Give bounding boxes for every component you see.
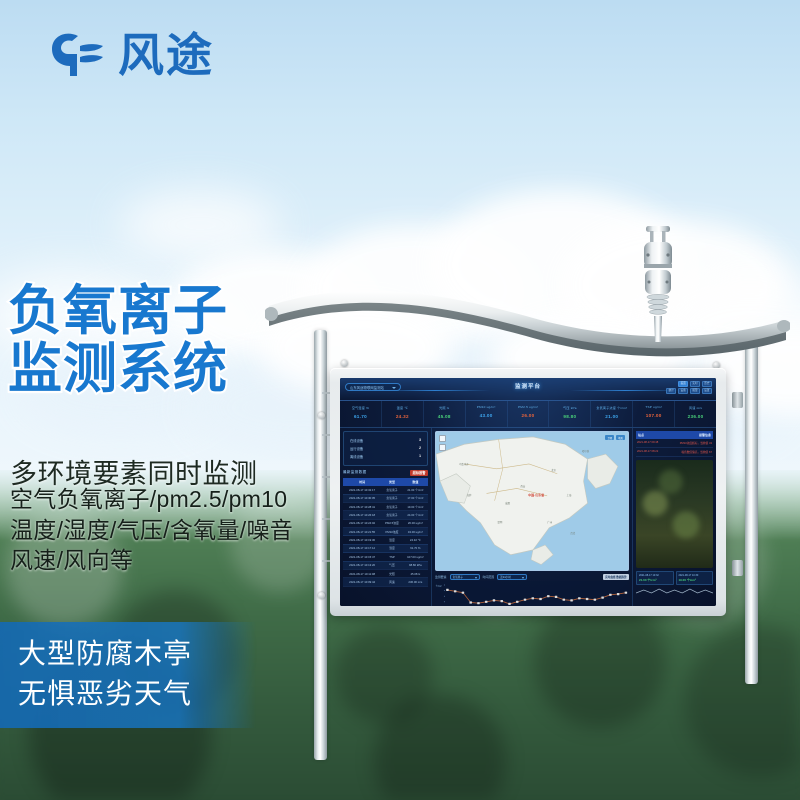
stat-label: 离线设备	[350, 454, 363, 459]
y-axis-tick	[444, 590, 445, 591]
chart-marker	[524, 599, 526, 601]
records-column-header: 时间	[343, 478, 381, 486]
spec-item: 温度/湿度/气压/含氧量/噪音	[10, 515, 320, 546]
table-cell: TSP	[381, 553, 402, 561]
table-cell: 107.00 ug/m³	[403, 553, 428, 561]
chart-controls: 监测要素 负氧离子 时间范围 近24小时 实时曲线 数据趋势	[435, 574, 629, 581]
product-marketing-image: 监测平台 山东风途物联网监测站 首页 实时 历史 统计 设备 报警 设置	[0, 0, 800, 800]
header-chip[interactable]: 报警	[690, 388, 700, 394]
feature-badge-line-1: 大型防腐木亭	[18, 634, 256, 674]
metric-value: 61.70	[340, 414, 381, 419]
map-zoom-out-icon[interactable]	[439, 444, 446, 451]
y-axis-tick	[444, 596, 445, 597]
right-panel-footer: 2021-08-17 10:3221.00 个/cm³2021-08-17 10…	[636, 571, 713, 585]
table-cell: 2021-08-17 10:13:20	[343, 561, 381, 569]
metric-label: 负氧离子浓度 个/cm³	[591, 405, 632, 410]
chart-marker	[625, 592, 627, 594]
chart-marker	[617, 593, 619, 595]
map-city-label: 台北	[570, 531, 575, 535]
table-cell: 负氧离子	[381, 502, 402, 510]
metric-value: 107.00	[633, 413, 674, 418]
table-cell: 19.00 个/cm³	[403, 502, 428, 510]
dashboard-header: 监测平台 山东风途物联网监测站 首页 实时 历史 统计 设备 报警 设置	[340, 378, 716, 401]
chart-tag: 实时曲线 数据趋势	[603, 574, 629, 580]
display-cabinet: 监测平台 山东风途物联网监测站 首页 实时 历史 统计 设备 报警 设置	[330, 368, 726, 616]
canopy-roof	[265, 288, 790, 358]
feature-badge-line-2: 无惧恶劣天气	[18, 674, 256, 714]
records-column-header: 类型	[381, 478, 402, 486]
map-city-label: 哈尔滨	[582, 449, 589, 453]
table-cell: 2021-08-17 10:11:08	[343, 569, 381, 577]
chart-marker	[532, 597, 534, 599]
metric-value: 21.00	[591, 414, 632, 419]
table-row[interactable]: 2021-08-17 10:15:47TSP107.00 ug/m³	[343, 553, 428, 561]
table-cell: 风速	[381, 578, 402, 586]
header-control-row-1: 统计 设备 报警 设置	[666, 388, 712, 394]
table-cell: 负氧离子	[381, 486, 402, 494]
hinge-icon	[732, 392, 743, 408]
headline-line-1: 负氧离子	[8, 282, 308, 340]
records-panel-title: 最新监测数据	[343, 470, 366, 475]
chart-marker	[601, 597, 603, 599]
map-city-label: 上海	[567, 493, 572, 497]
metric-label: TSP ug/m³	[633, 405, 674, 409]
table-cell: 17.00 个/cm³	[403, 494, 428, 502]
brand-name: 风途	[118, 32, 214, 78]
stat-row: 离线设备1	[350, 452, 421, 460]
support-post-right	[745, 332, 758, 684]
metric-card: 风速 m/s236.00	[675, 401, 716, 427]
chart-marker	[477, 602, 479, 604]
map-layer-badges[interactable]: 卫星 地形	[605, 435, 625, 440]
records-table-body: 2021-08-17 10:32:17负氧离子21.00 个/cm³2021-0…	[343, 486, 428, 586]
table-cell: 2021-08-17 10:19:30	[343, 536, 381, 544]
chart-marker	[563, 599, 565, 601]
summary-cell: 2021-08-17 10:3221.00 个/cm³	[636, 571, 674, 585]
brand-logo: 风途	[44, 26, 214, 84]
feature-badge: 大型防腐木亭 无惧恶劣天气	[0, 622, 256, 728]
map-city-label: 拉萨	[467, 493, 472, 497]
header-control-row-0: 首页 实时 历史	[678, 381, 712, 387]
screen-bezel-inner: 监测平台 山东风途物联网监测站 首页 实时 历史 统计 设备 报警 设置	[340, 378, 716, 606]
table-cell: 61.70 %	[403, 544, 428, 552]
table-row[interactable]: 2021-08-17 10:24:02PM2.5浓度26.00 ug/m³	[343, 519, 428, 527]
chart-marker	[594, 599, 596, 601]
metric-card: TSP ug/m³107.00	[633, 401, 675, 427]
table-cell: 2021-08-17 10:09:44	[343, 578, 381, 586]
chart-marker	[493, 599, 495, 601]
map-region-label: 中国·山东省	[528, 493, 544, 497]
summary-time: 2021-08-17 10:32	[639, 574, 671, 577]
station-select[interactable]: 山东风途物联网监测站	[345, 383, 401, 391]
bolt-icon	[318, 412, 325, 419]
alert-badge: 超标报警	[410, 470, 428, 477]
header-chip[interactable]: 统计	[666, 388, 676, 394]
table-cell: 2021-08-17 10:30:05	[343, 494, 381, 502]
alert-time: 2021-08-17 09:48	[637, 441, 658, 445]
metric-card: PM2.5 ug/m³26.00	[508, 401, 550, 427]
chart-marker	[462, 592, 464, 594]
metric-value: 45.08	[424, 414, 465, 419]
chart-marker	[485, 601, 487, 603]
metric-value: 43.00	[466, 413, 507, 418]
table-cell: 光照	[381, 569, 402, 577]
table-row[interactable]: 2021-08-17 10:09:44风速236.00 m/s	[343, 578, 428, 586]
spec-item: 空气负氧离子/pm2.5/pm10	[10, 484, 320, 515]
chart-marker	[469, 601, 471, 603]
table-cell: 26.00 ug/m³	[403, 519, 428, 527]
metric-card: 光照 lx45.08	[424, 401, 466, 427]
spec-list: 空气负氧离子/pm2.5/pm10 温度/湿度/气压/含氧量/噪音 风速/风向等	[10, 484, 320, 576]
chart-marker	[555, 596, 557, 598]
headline-line-2: 监测系统	[8, 340, 308, 398]
records-table: 时间类型数值 2021-08-17 10:32:17负氧离子21.00 个/cm…	[343, 478, 428, 587]
bolt-icon	[341, 360, 348, 367]
header-chip[interactable]: 实时	[690, 381, 700, 387]
chart-line	[447, 590, 625, 604]
headline: 负氧离子 监测系统	[8, 282, 308, 399]
metric-card: PM10 ug/m³43.00	[466, 401, 508, 427]
table-cell: 98.80 kPa	[403, 561, 428, 569]
spec-item: 风速/风向等	[10, 545, 320, 576]
bolt-icon	[318, 592, 325, 599]
metric-card: 气压 kPa98.80	[549, 401, 591, 427]
table-cell: 2021-08-17 10:32:17	[343, 486, 381, 494]
metric-value: 24.32	[382, 414, 423, 419]
summary-value: 21.00 个/cm³	[639, 578, 671, 582]
table-row[interactable]: 2021-08-17 10:21:55PM10浓度43.00 ug/m³	[343, 528, 428, 536]
left-column: 在线设备3运行设备2离线设备1 最新监测数据 超标报警 时间类型数值 2021-…	[340, 428, 432, 606]
header-chip[interactable]: 首页	[678, 381, 688, 387]
table-cell: 湿度	[381, 544, 402, 552]
records-panel-header: 最新监测数据 超标报警	[343, 470, 428, 477]
right-column: 站点 报警信息 2021-08-17 09:48PM10浓度超标，当前值 432…	[632, 428, 716, 606]
chart-marker	[516, 601, 518, 603]
chart-marker	[609, 594, 611, 596]
metric-value: 236.00	[675, 414, 716, 419]
stat-value: 2	[419, 446, 421, 451]
chart-marker	[570, 599, 572, 601]
stat-row: 运行设备2	[350, 444, 421, 452]
map-badge[interactable]: 地形	[616, 435, 625, 440]
alert-row[interactable]: 2021-08-17 08:22噪音数值偏高，当前值 67	[636, 448, 713, 457]
alert-time: 2021-08-17 08:22	[637, 450, 658, 454]
table-cell: PM2.5浓度	[381, 519, 402, 527]
table-cell: 21.00 个/cm³	[403, 486, 428, 494]
metric-label: 气压 kPa	[549, 405, 590, 410]
metric-value: 98.80	[549, 414, 590, 419]
header-controls: 首页 实时 历史 统计 设备 报警 设置	[666, 381, 712, 394]
map-zoom-in-icon[interactable]	[439, 435, 446, 442]
chart-marker	[578, 597, 580, 599]
table-row[interactable]: 2021-08-17 10:32:17负氧离子21.00 个/cm³	[343, 486, 428, 494]
device-stat-box: 在线设备3运行设备2离线设备1	[343, 431, 428, 466]
chart-marker	[454, 590, 456, 592]
table-cell: PM10浓度	[381, 528, 402, 536]
site-photo	[636, 460, 713, 568]
table-cell: 负氧离子	[381, 511, 402, 519]
chart-range-label: 时间范围	[483, 575, 495, 579]
stat-label: 运行设备	[350, 446, 363, 451]
table-cell: 236.00 m/s	[403, 578, 428, 586]
table-cell: 2021-08-17 10:28:41	[343, 502, 381, 510]
y-axis-tick	[444, 601, 445, 602]
table-row[interactable]: 2021-08-17 10:11:08光照45.08 lx	[343, 569, 428, 577]
alert-message: PM10浓度超标，当前值 43	[680, 441, 712, 445]
chart-marker	[446, 589, 448, 591]
table-cell: 2021-08-17 10:15:47	[343, 553, 381, 561]
map-city-label: 成都	[505, 501, 510, 505]
summary-cell: 2021-08-17 10:3019.00 个/cm³	[676, 571, 714, 585]
records-column-header: 数值	[403, 478, 428, 486]
monitoring-dashboard: 监测平台 山东风途物联网监测站 首页 实时 历史 统计 设备 报警 设置	[340, 378, 716, 606]
ultrasonic-weather-sensor-icon	[637, 224, 679, 342]
header-chip[interactable]: 历史	[702, 381, 712, 387]
cloud-puff	[120, 190, 280, 260]
map-panel[interactable]: 中国·山东省 北京 上海 广州 西安 成都 昆明 拉萨 乌鲁木齐 哈尔滨 台北	[435, 431, 629, 571]
map-city-label: 乌鲁木齐	[459, 462, 469, 466]
table-row[interactable]: 2021-08-17 10:26:18负氧离子24.00 个/cm³	[343, 511, 428, 519]
table-cell: 45.08 lx	[403, 569, 428, 577]
metric-card: 负氧离子浓度 个/cm³21.00	[591, 401, 633, 427]
right-panel-header-right: 报警信息	[699, 433, 711, 437]
table-cell: 2021-08-17 10:17:12	[343, 544, 381, 552]
header-chip[interactable]: 设置	[702, 388, 712, 394]
map-landmass	[436, 432, 628, 570]
table-row[interactable]: 2021-08-17 10:28:41负氧离子19.00 个/cm³	[343, 502, 428, 510]
alert-list: 2021-08-17 09:48PM10浓度超标，当前值 432021-08-1…	[636, 439, 713, 457]
chart-marker	[547, 595, 549, 597]
y-axis-tick	[444, 585, 445, 586]
center-column: 中国·山东省 北京 上海 广州 西安 成都 昆明 拉萨 乌鲁木齐 哈尔滨 台北	[432, 428, 632, 606]
metric-label: PM10 ug/m³	[466, 405, 507, 409]
chart-type-label: 监测要素	[435, 575, 447, 579]
dashboard-body: 在线设备3运行设备2离线设备1 最新监测数据 超标报警 时间类型数值 2021-…	[340, 428, 716, 606]
hinge-icon	[732, 560, 743, 576]
spark-row	[636, 587, 713, 595]
metric-value: 26.00	[508, 413, 549, 418]
table-cell: 温度	[381, 536, 402, 544]
alert-message: 噪音数值偏高，当前值 67	[681, 450, 712, 454]
chart-marker	[586, 598, 588, 600]
map-city-label: 北京	[551, 468, 556, 472]
chart-marker	[500, 600, 502, 602]
table-cell: 24.32 ℃	[403, 536, 428, 544]
table-cell: 2021-08-17 10:21:55	[343, 528, 381, 536]
stat-label: 在线设备	[350, 438, 363, 443]
stat-value: 3	[419, 438, 421, 443]
map-city-label: 广州	[547, 520, 552, 524]
chart-range-select[interactable]: 近24小时	[497, 574, 527, 581]
metric-label: 光照 lx	[424, 405, 465, 410]
metric-label: 风速 m/s	[675, 405, 716, 410]
map-city-label: 昆明	[497, 520, 502, 524]
table-cell: 24.00 个/cm³	[403, 511, 428, 519]
chart-type-select[interactable]: 负氧离子	[450, 574, 480, 581]
y-axis-label: 个/cm³	[436, 584, 442, 588]
table-cell: 2021-08-17 10:24:02	[343, 519, 381, 527]
records-table-header: 时间类型数值	[343, 478, 428, 486]
table-cell: 负氧离子	[381, 494, 402, 502]
map-city-label: 西安	[520, 484, 525, 488]
trend-chart: 个/cm³10:0010:1010:2010:3010:4010:5011:00…	[435, 581, 629, 606]
header-chip[interactable]: 设备	[678, 388, 688, 394]
summary-value: 19.00 个/cm³	[679, 578, 711, 582]
map-badge[interactable]: 卫星	[605, 435, 614, 440]
stat-row: 在线设备3	[350, 436, 421, 444]
metric-label: 空气湿度 %	[340, 405, 381, 410]
table-cell: 43.00 ug/m³	[403, 528, 428, 536]
metric-card: 空气湿度 %61.70	[340, 401, 382, 427]
alert-row[interactable]: 2021-08-17 09:48PM10浓度超标，当前值 43	[636, 439, 713, 448]
chart-marker	[508, 603, 510, 605]
table-cell: 气压	[381, 561, 402, 569]
table-row[interactable]: 2021-08-17 10:19:30温度24.32 ℃	[343, 536, 428, 544]
chart-marker	[539, 598, 541, 600]
stat-value: 1	[419, 454, 421, 459]
table-cell: 2021-08-17 10:26:18	[343, 511, 381, 519]
cloud-wind-logo-icon	[44, 26, 108, 84]
table-row[interactable]: 2021-08-17 10:30:05负氧离子17.00 个/cm³	[343, 494, 428, 502]
right-panel-header: 站点 报警信息	[636, 431, 713, 439]
map-zoom-controls[interactable]	[439, 435, 446, 451]
summary-time: 2021-08-17 10:30	[679, 574, 711, 577]
metric-card: 温度 ℃24.32	[382, 401, 424, 427]
table-row[interactable]: 2021-08-17 10:13:20气压98.80 kPa	[343, 561, 428, 569]
metric-strip: 空气湿度 %61.70温度 ℃24.32光照 lx45.08PM10 ug/m³…	[340, 401, 716, 428]
right-panel-header-left: 站点	[638, 433, 644, 437]
metric-label: PM2.5 ug/m³	[508, 405, 549, 409]
table-row[interactable]: 2021-08-17 10:17:12湿度61.70 %	[343, 544, 428, 552]
metric-label: 温度 ℃	[382, 405, 423, 410]
